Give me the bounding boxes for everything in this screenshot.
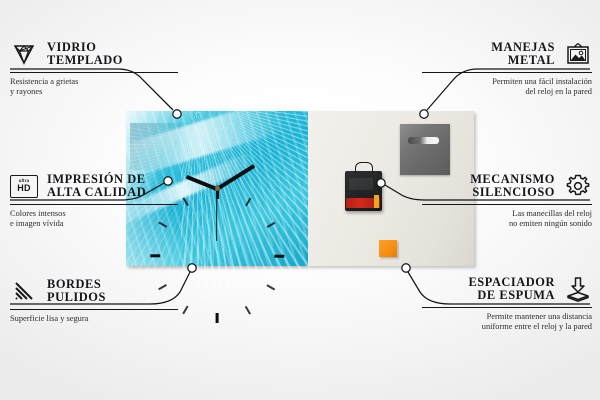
movement-detail [349, 178, 373, 190]
divider [422, 307, 592, 308]
feature-bordes-pulidos[interactable]: BORDES PULIDOS Superficie lisa y segura [10, 277, 178, 324]
diamond-icon [10, 40, 38, 68]
clock-minute-hand [216, 164, 255, 191]
divider [10, 72, 178, 73]
divider [422, 204, 592, 205]
movement-hanging-loop [355, 162, 373, 173]
feature-header: ultra HD IMPRESIÓN DE ALTA CALIDAD [10, 172, 178, 200]
feature-impresion-alta-calidad[interactable]: ultra HD IMPRESIÓN DE ALTA CALIDAD Color… [10, 172, 178, 230]
divider [422, 72, 592, 73]
gear-icon [564, 172, 592, 200]
ultra-hd-icon: ultra HD [10, 172, 38, 200]
polished-edges-icon [10, 277, 38, 305]
feature-title: ESPACIADOR DE ESPUMA [468, 276, 555, 303]
metal-hanger-plate [400, 124, 450, 175]
feature-description: Permiten una fácil instalación del reloj… [422, 77, 592, 98]
feature-vidrio-templado[interactable]: VIDRIO TEMPLADO Resistencia a grietas y … [10, 40, 178, 98]
ultra-hd-icon-main-text: HD [17, 184, 30, 193]
feature-title: VIDRIO TEMPLADO [47, 41, 123, 68]
feature-title: MECANISMO SILENCIOSO [470, 173, 555, 200]
divider [10, 204, 178, 205]
feature-header: ESPACIADOR DE ESPUMA [422, 275, 592, 303]
feature-description: Permite mantener una distancia uniforme … [422, 312, 592, 333]
feature-espaciador-espuma[interactable]: ESPACIADOR DE ESPUMA Permite mantener un… [422, 275, 592, 333]
movement-battery [346, 198, 380, 208]
feature-title: BORDES PULIDOS [47, 278, 106, 305]
feature-manejas-metal[interactable]: MANEJAS METAL Permiten una fácil instala… [422, 40, 592, 98]
feature-header: MANEJAS METAL [422, 40, 592, 68]
clock-tick [183, 197, 189, 206]
clock-hour-hand [186, 174, 218, 190]
clock-tick [216, 313, 219, 323]
product-feature-infographic: VIDRIO TEMPLADO Resistencia a grietas y … [0, 0, 600, 400]
foam-spacer-pad [379, 240, 396, 257]
feature-title: MANEJAS METAL [491, 41, 555, 68]
feature-title: IMPRESIÓN DE ALTA CALIDAD [47, 173, 146, 200]
clock-center-cap [215, 186, 220, 191]
feature-mecanismo-silencioso[interactable]: MECANISMO SILENCIOSO Las manecillas del … [422, 172, 592, 230]
clock-tick [245, 305, 251, 314]
clock-tick [267, 221, 276, 227]
clock-tick [151, 254, 161, 257]
feature-description: Resistencia a grietas y rayones [10, 77, 178, 98]
divider [10, 309, 178, 310]
clock-tick [275, 254, 285, 257]
feature-header: MECANISMO SILENCIOSO [422, 172, 592, 200]
feature-description: Colores intensos e imagen vívida [10, 209, 178, 230]
feature-description: Superficie lisa y segura [10, 314, 178, 324]
foam-spacer-icon [564, 275, 592, 303]
clock-tick [245, 197, 251, 206]
clock-movement [345, 171, 382, 211]
feature-header: BORDES PULIDOS [10, 277, 178, 305]
feature-header: VIDRIO TEMPLADO [10, 40, 178, 68]
picture-hanger-icon [564, 40, 592, 68]
feature-description: Las manecillas del reloj no emiten ningú… [422, 209, 592, 230]
hanger-slot [408, 137, 439, 143]
clock-tick [183, 305, 189, 314]
